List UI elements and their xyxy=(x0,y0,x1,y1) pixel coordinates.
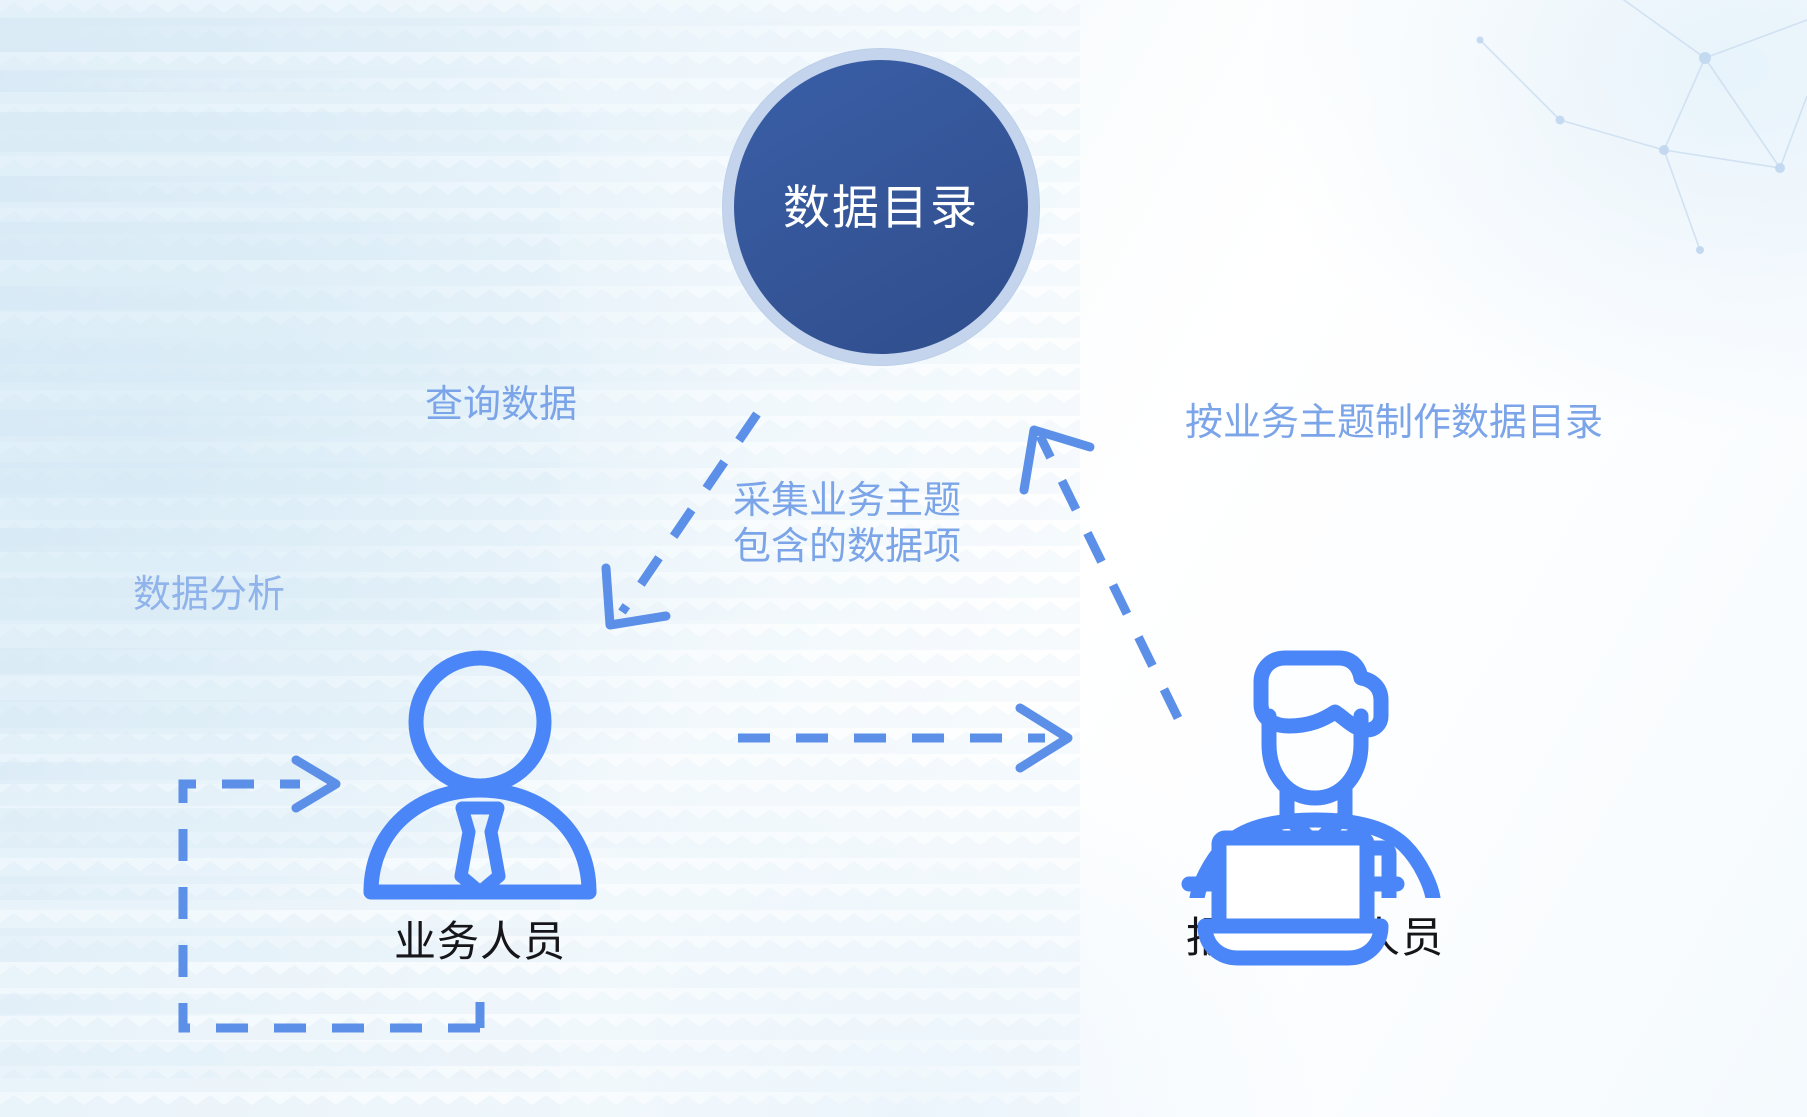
edge-label-collect-data-items: 采集业务主题 包含的数据项 xyxy=(733,478,961,571)
edge-label-data-analysis: 数据分析 xyxy=(133,572,285,618)
edge-label-collect-line2: 包含的数据项 xyxy=(733,524,961,570)
arrowhead-query-data xyxy=(606,568,666,625)
data-catalog-label: 数据目录 xyxy=(783,184,979,231)
actor-report-developer[interactable]: 报表开发人员 xyxy=(1145,620,1485,965)
edge-label-query-data: 查询数据 xyxy=(425,382,577,428)
business-person-icon xyxy=(349,640,611,902)
arrowhead-build xyxy=(1024,430,1090,490)
actor-report-developer-label: 报表开发人员 xyxy=(1186,904,1444,965)
arrowhead-collect xyxy=(1020,708,1068,768)
diagram-canvas: 数据目录 查询数据 数据分析 采集业务主题 包含的数据项 按业务主题制作数据目录 xyxy=(0,0,1807,1117)
data-catalog-node[interactable]: 数据目录 xyxy=(734,60,1028,354)
edge-label-build-catalog: 按业务主题制作数据目录 xyxy=(1185,400,1603,446)
actor-business-person[interactable]: 业务人员 xyxy=(330,640,630,969)
actor-business-person-label: 业务人员 xyxy=(394,908,566,969)
edge-label-collect-line1: 采集业务主题 xyxy=(733,478,961,524)
report-developer-icon xyxy=(1169,620,1461,898)
